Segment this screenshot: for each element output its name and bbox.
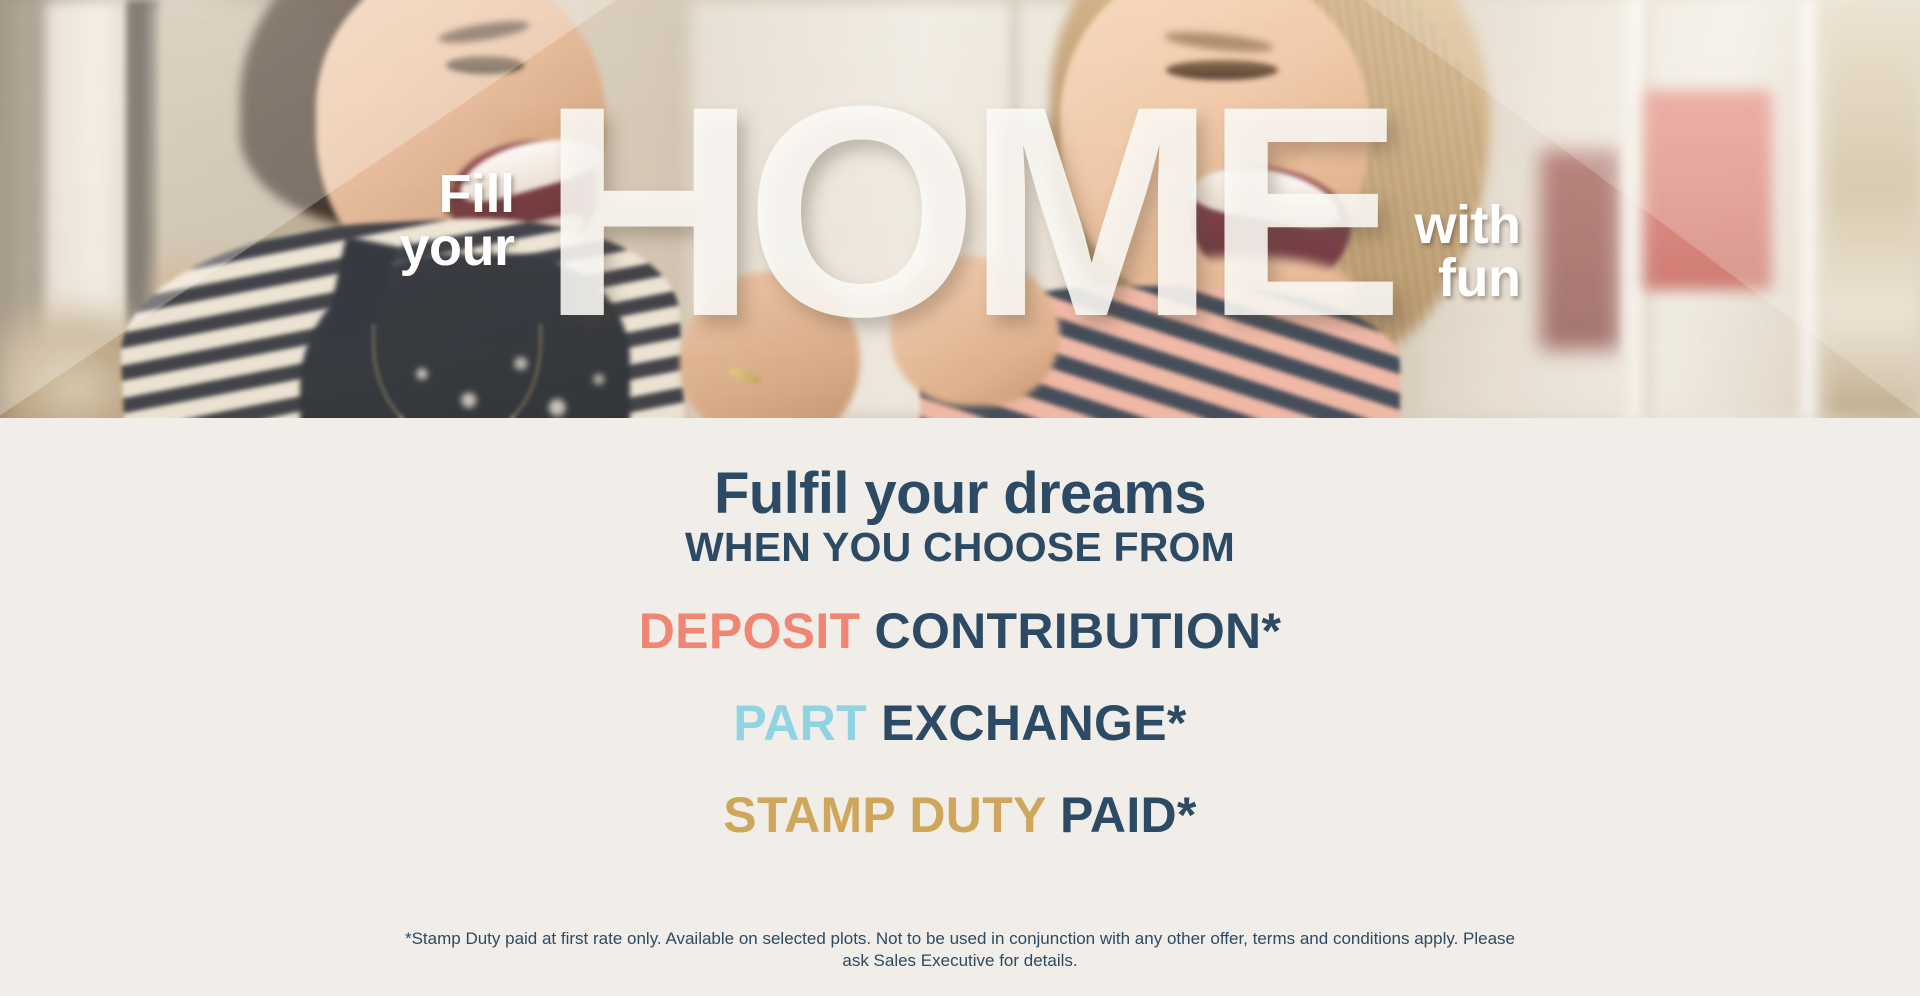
daughter-eye [1166, 60, 1278, 80]
promotional-banner: Fill your HOME with fun Fulfil your drea… [0, 0, 1920, 996]
right-stone-wall [1825, 0, 1920, 418]
flour-dust [370, 332, 630, 418]
daughter-figure [910, 0, 1530, 418]
disclaimer-text: *Stamp Duty paid at first rate only. Ava… [400, 928, 1520, 972]
pink-curtain-panel [1644, 90, 1772, 290]
mother-eye [446, 56, 524, 74]
offer-highlight-part: PART [733, 695, 867, 751]
offer-highlight-stamp-duty: STAMP DUTY [723, 787, 1045, 843]
offer-item-part-exchange: PART EXCHANGE* [0, 698, 1920, 748]
offer-highlight-deposit: DEPOSIT [639, 603, 861, 659]
daughter-hand [890, 256, 1060, 406]
offer-item-stamp-duty-paid: STAMP DUTY PAID* [0, 790, 1920, 840]
mother-figure [120, 0, 760, 418]
daughter-nose [1246, 114, 1308, 170]
kitchen-scene-illustration [0, 0, 1920, 418]
offers-subheadline: WHEN YOU CHOOSE FROM [0, 525, 1920, 570]
hero-image: Fill your HOME with fun [0, 0, 1920, 418]
offer-item-deposit-contribution: DEPOSIT CONTRIBUTION* [0, 606, 1920, 656]
offer-rest-paid: PAID* [1046, 787, 1197, 843]
window-mullion-right [1798, 0, 1824, 418]
offer-rest-contribution: CONTRIBUTION* [860, 603, 1281, 659]
background-panel-dark [1540, 150, 1620, 350]
offers-panel: Fulfil your dreams WHEN YOU CHOOSE FROM … [0, 418, 1920, 996]
offer-list: DEPOSIT CONTRIBUTION* PART EXCHANGE* STA… [0, 606, 1920, 840]
offers-headline: Fulfil your dreams [0, 464, 1920, 523]
offer-rest-exchange: EXCHANGE* [867, 695, 1187, 751]
